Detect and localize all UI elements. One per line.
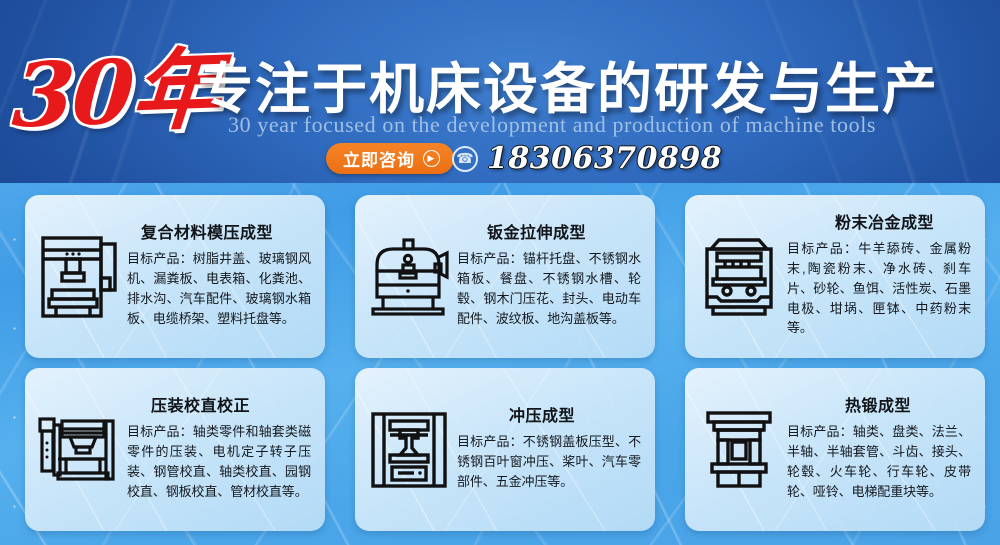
sheet-metal-drawing-machine-icon bbox=[361, 237, 457, 317]
card-description: 目标产品：轴类、盘类、法兰、半轴、半轴套管、斗齿、接头、轮毂、火车轮、行车轮、皮… bbox=[787, 422, 971, 501]
banner-header: 30年 专注于机床设备的研发与生产 30 year focused on the… bbox=[0, 0, 1000, 183]
card-text: 复合材料模压成型 目标产品：树脂井盖、玻璃钢风机、漏粪板、电表箱、化粪池、排水沟… bbox=[127, 225, 313, 329]
subheadline-text: 30 year focused on the development and p… bbox=[228, 112, 876, 138]
arrow-right-icon: ▶ bbox=[423, 150, 440, 167]
consult-now-label: 立即咨询 bbox=[343, 146, 415, 171]
card-title: 钣金拉伸成型 bbox=[457, 225, 641, 243]
card-text: 粉末冶金成型 目标产品：牛羊舔砖、金属粉末,陶瓷粉末、净水砖、刹车片、砂轮、鱼饵… bbox=[787, 215, 973, 338]
product-card[interactable]: 热锻成型 目标产品：轴类、盘类、法兰、半轴、半轴套管、斗齿、接头、轮毂、火车轮、… bbox=[685, 368, 985, 531]
card-title: 复合材料模压成型 bbox=[127, 225, 311, 243]
card-description: 目标产品：不锈钢盖板压型、不锈钢百叶窗冲压、桨叶、汽车零部件、五金冲压等。 bbox=[457, 432, 641, 491]
card-text: 压装校直校正 目标产品：轴类零件和轴套类磁零件的压装、电机定子转子压装、钢管校直… bbox=[127, 398, 313, 502]
card-description: 目标产品：锚杆托盘、不锈钢水箱板、餐盘、不锈钢水槽、轮毂、钢木门压花、封头、电动… bbox=[457, 249, 641, 328]
card-title: 粉末冶金成型 bbox=[787, 215, 971, 233]
product-card[interactable]: 复合材料模压成型 目标产品：树脂井盖、玻璃钢风机、漏粪板、电表箱、化粪池、排水沟… bbox=[25, 195, 325, 358]
product-card-grid: 复合材料模压成型 目标产品：树脂井盖、玻璃钢风机、漏粪板、电表箱、化粪池、排水沟… bbox=[25, 195, 985, 531]
card-text: 钣金拉伸成型 目标产品：锚杆托盘、不锈钢水箱板、餐盘、不锈钢水槽、轮毂、钢木门压… bbox=[457, 225, 643, 329]
product-card[interactable]: 钣金拉伸成型 目标产品：锚杆托盘、不锈钢水箱板、餐盘、不锈钢水槽、轮毂、钢木门压… bbox=[355, 195, 655, 358]
product-card[interactable]: 冲压成型 目标产品：不锈钢盖板压型、不锈钢百叶窗冲压、桨叶、汽车零部件、五金冲压… bbox=[355, 368, 655, 531]
compression-molding-machine-icon bbox=[31, 234, 127, 320]
phone-contact[interactable]: ☎ 18306370898 bbox=[452, 141, 722, 176]
years-badge: 30年 bbox=[9, 18, 223, 152]
card-title: 冲压成型 bbox=[457, 408, 641, 426]
card-title: 压装校直校正 bbox=[127, 398, 311, 416]
hot-forging-machine-icon bbox=[691, 409, 787, 491]
card-description: 目标产品：轴类零件和轴套类磁零件的压装、电机定子转子压装、钢管校直、轴类校直、园… bbox=[127, 422, 311, 501]
card-text: 热锻成型 目标产品：轴类、盘类、法兰、半轴、半轴套管、斗齿、接头、轮毂、火车轮、… bbox=[787, 398, 973, 502]
powder-metallurgy-machine-icon bbox=[691, 235, 787, 319]
phone-number: 18306370898 bbox=[487, 141, 722, 176]
press-fit-straightening-machine-icon bbox=[31, 413, 127, 487]
consult-now-button[interactable]: 立即咨询 ▶ bbox=[326, 143, 454, 174]
promo-banner: 30年 专注于机床设备的研发与生产 30 year focused on the… bbox=[0, 0, 1000, 545]
card-title: 热锻成型 bbox=[787, 398, 971, 416]
phone-icon: ☎ bbox=[452, 146, 478, 172]
stamping-machine-icon bbox=[361, 411, 457, 489]
card-description: 目标产品：树脂井盖、玻璃钢风机、漏粪板、电表箱、化粪池、排水沟、汽车配件、玻璃钢… bbox=[127, 249, 311, 328]
product-card[interactable]: 粉末冶金成型 目标产品：牛羊舔砖、金属粉末,陶瓷粉末、净水砖、刹车片、砂轮、鱼饵… bbox=[685, 195, 985, 358]
product-card[interactable]: 压装校直校正 目标产品：轴类零件和轴套类磁零件的压装、电机定子转子压装、钢管校直… bbox=[25, 368, 325, 531]
banner-body: 复合材料模压成型 目标产品：树脂井盖、玻璃钢风机、漏粪板、电表箱、化粪池、排水沟… bbox=[0, 183, 1000, 545]
card-text: 冲压成型 目标产品：不锈钢盖板压型、不锈钢百叶窗冲压、桨叶、汽车零部件、五金冲压… bbox=[457, 408, 643, 492]
card-description: 目标产品：牛羊舔砖、金属粉末,陶瓷粉末、净水砖、刹车片、砂轮、鱼饵、活性炭、石墨… bbox=[787, 239, 971, 338]
